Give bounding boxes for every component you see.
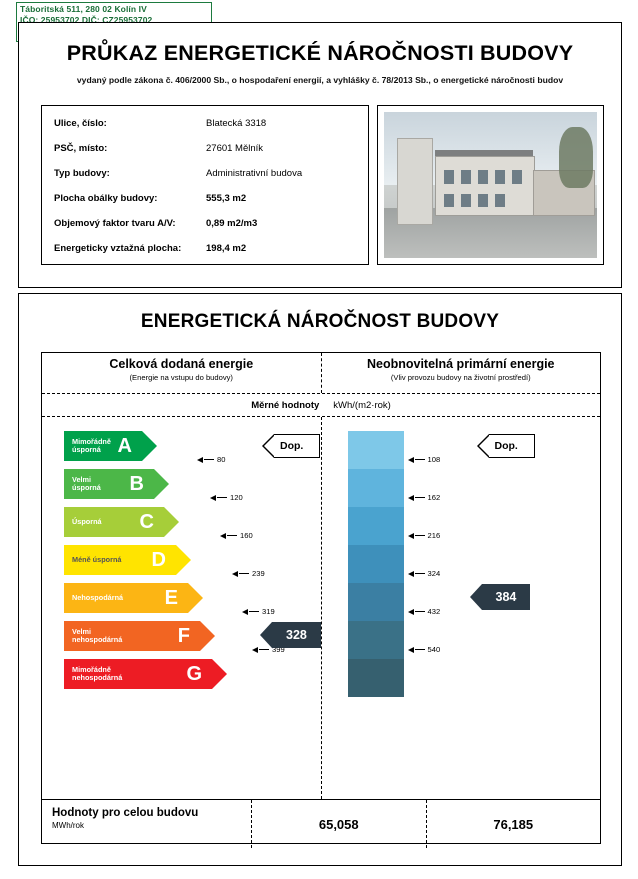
photo-window: [478, 170, 489, 183]
page-title: PRŮKAZ ENERGETICKÉ NÁROČNOSTI BUDOVY: [19, 41, 621, 66]
threshold-216: 216: [408, 531, 441, 540]
primary-bar-d: [348, 545, 404, 583]
info-row: Energeticky vztažná plocha: 198,4 m2: [54, 243, 368, 254]
energy-class-a-label: Mimořádně úsporná: [72, 438, 111, 454]
threshold-239-value: 239: [252, 569, 265, 578]
energy-class-e: Nehospodárná E: [64, 583, 203, 613]
energy-class-c-letter: C: [140, 512, 154, 532]
chart-header-right: Neobnovitelná primární energie (Vliv pro…: [322, 353, 601, 393]
stamp-line-1: Táboritská 511, 280 02 Kolín IV: [20, 4, 208, 15]
recommended-label-right: Dop.: [489, 434, 535, 458]
totals-left-value: 65,058: [252, 800, 427, 848]
chart-header-right-subtitle: (Vliv provozu budovy na životní prostřed…: [322, 373, 601, 382]
energy-class-c: Úsporná C: [64, 507, 179, 537]
primary-bar-g: [348, 659, 404, 697]
info-row: Objemový faktor tvaru A/V: 0,89 m2/m3: [54, 218, 368, 229]
energy-class-g: Mimořádně nehospodárná G: [64, 659, 227, 689]
energy-class-f-letter: F: [178, 626, 190, 646]
value-callout-right: 384: [470, 584, 531, 610]
threshold-108-value: 108: [428, 455, 441, 464]
units-row: Měrné hodnoty kWh/(m2·rok): [42, 394, 600, 417]
value-right: 384: [482, 584, 531, 610]
value-callout-left: 328: [260, 622, 321, 648]
info-value: 0,89 m2/m3: [206, 218, 257, 229]
energy-class-e-label: Nehospodárná: [72, 594, 123, 602]
photo-window: [461, 194, 472, 207]
threshold-120-value: 120: [230, 493, 243, 502]
primary-bar-b: [348, 469, 404, 507]
threshold-162: 162: [408, 493, 441, 502]
threshold-160-value: 160: [240, 531, 253, 540]
units-label: Měrné hodnoty: [251, 400, 319, 411]
threshold-540-value: 540: [428, 645, 441, 654]
energy-class-d: Méně úsporná D: [64, 545, 191, 575]
info-value: Blatecká 3318: [206, 118, 266, 129]
threshold-540: 540: [408, 645, 441, 654]
threshold-160: 160: [220, 531, 253, 540]
energy-class-b-label: Velmi úsporná: [72, 476, 101, 492]
photo-window: [495, 194, 506, 207]
info-label: Plocha obálky budovy:: [54, 193, 206, 204]
chart-header-left: Celková dodaná energie (Energie na vstup…: [42, 353, 322, 393]
totals-label-cell: Hodnoty pro celou budovu MWh/rok: [42, 800, 252, 848]
energy-class-d-letter: D: [152, 550, 166, 570]
photo-window: [461, 170, 472, 183]
value-left: 328: [272, 622, 321, 648]
energy-class-a: Mimořádně úsporná A: [64, 431, 157, 461]
photo-tree: [559, 127, 593, 188]
energy-panel: ENERGETICKÁ NÁROČNOST BUDOVY Celková dod…: [18, 293, 622, 866]
threshold-162-value: 162: [428, 493, 441, 502]
energy-class-e-letter: E: [165, 588, 178, 608]
chart-primary-energy: 108 162 216 324: [322, 417, 601, 799]
threshold-324-value: 324: [428, 569, 441, 578]
building-photo: [384, 112, 597, 258]
photo-window: [495, 170, 506, 183]
document-page: Táboritská 511, 280 02 Kolín IV IČO: 259…: [0, 0, 638, 879]
primary-bar-f: [348, 621, 404, 659]
primary-bar-e: [348, 583, 404, 621]
chart-headers: Celková dodaná energie (Energie na vstup…: [42, 353, 600, 394]
threshold-239: 239: [232, 569, 265, 578]
energy-class-g-label: Mimořádně nehospodárná: [72, 666, 122, 682]
threshold-432-value: 432: [428, 607, 441, 616]
threshold-216-value: 216: [428, 531, 441, 540]
info-label: Objemový faktor tvaru A/V:: [54, 218, 206, 229]
threshold-80: 80: [197, 455, 225, 464]
info-label: Energeticky vztažná plocha:: [54, 243, 206, 254]
photo-building-left: [397, 138, 433, 225]
threshold-432: 432: [408, 607, 441, 616]
units-value: kWh/(m2·rok): [333, 400, 391, 411]
chart-header-left-subtitle: (Energie na vstupu do budovy): [42, 373, 321, 382]
energy-class-c-label: Úsporná: [72, 518, 102, 526]
totals-label: Hodnoty pro celou budovu: [52, 807, 251, 819]
totals-right-value: 76,185: [427, 800, 601, 848]
energy-class-f-label: Velmi nehospodárná: [72, 628, 122, 644]
energy-chart-grid: Celková dodaná energie (Energie na vstup…: [41, 352, 601, 844]
photo-window: [444, 170, 455, 183]
info-label: PSČ, místo:: [54, 143, 206, 154]
chart-total-delivered-energy: Mimořádně úsporná A 80 Velmi úsporná B: [42, 417, 322, 799]
info-row: Ulice, číslo: Blatecká 3318: [54, 118, 368, 129]
primary-bar-c: [348, 507, 404, 545]
info-label: Ulice, číslo:: [54, 118, 206, 129]
building-info-box: Ulice, číslo: Blatecká 3318 PSČ, místo: …: [41, 105, 369, 265]
energy-class-d-label: Méně úsporná: [72, 556, 121, 564]
info-value: 27601 Mělník: [206, 143, 263, 154]
primary-bar-a: [348, 431, 404, 469]
recommended-callout-left: Dop.: [262, 434, 320, 458]
photo-window: [478, 194, 489, 207]
totals-unit: MWh/rok: [52, 821, 251, 830]
chart-header-left-title: Celková dodaná energie: [42, 357, 321, 371]
building-photo-frame: [377, 105, 604, 265]
info-label: Typ budovy:: [54, 168, 206, 179]
info-row: Plocha obálky budovy: 555,3 m2: [54, 193, 368, 204]
page-subtitle: vydaný podle zákona č. 406/2000 Sb., o h…: [19, 75, 621, 85]
section-title: ENERGETICKÁ NÁROČNOST BUDOVY: [19, 311, 621, 333]
threshold-319-value: 319: [262, 607, 275, 616]
threshold-120: 120: [210, 493, 243, 502]
info-row: Typ budovy: Administrativní budova: [54, 168, 368, 179]
energy-class-g-letter: G: [186, 664, 202, 684]
threshold-324: 324: [408, 569, 441, 578]
charts-area: Mimořádně úsporná A 80 Velmi úsporná B: [42, 417, 600, 799]
recommended-callout-right: Dop.: [477, 434, 535, 458]
threshold-108: 108: [408, 455, 441, 464]
photo-window: [444, 194, 455, 207]
photo-window: [512, 170, 523, 183]
energy-class-f: Velmi nehospodárná F: [64, 621, 215, 651]
energy-class-b: Velmi úsporná B: [64, 469, 169, 499]
photo-building-main: [435, 156, 535, 216]
totals-row: Hodnoty pro celou budovu MWh/rok 65,058 …: [42, 799, 600, 848]
energy-class-a-letter: A: [118, 436, 132, 456]
header-panel: PRŮKAZ ENERGETICKÉ NÁROČNOSTI BUDOVY vyd…: [18, 22, 622, 288]
info-value: Administrativní budova: [206, 168, 302, 179]
energy-class-b-letter: B: [130, 474, 144, 494]
chart-header-right-title: Neobnovitelná primární energie: [322, 357, 601, 371]
info-row: PSČ, místo: 27601 Mělník: [54, 143, 368, 154]
info-value: 198,4 m2: [206, 243, 246, 254]
threshold-319: 319: [242, 607, 275, 616]
threshold-80-value: 80: [217, 455, 225, 464]
recommended-label-left: Dop.: [274, 434, 320, 458]
info-value: 555,3 m2: [206, 193, 246, 204]
